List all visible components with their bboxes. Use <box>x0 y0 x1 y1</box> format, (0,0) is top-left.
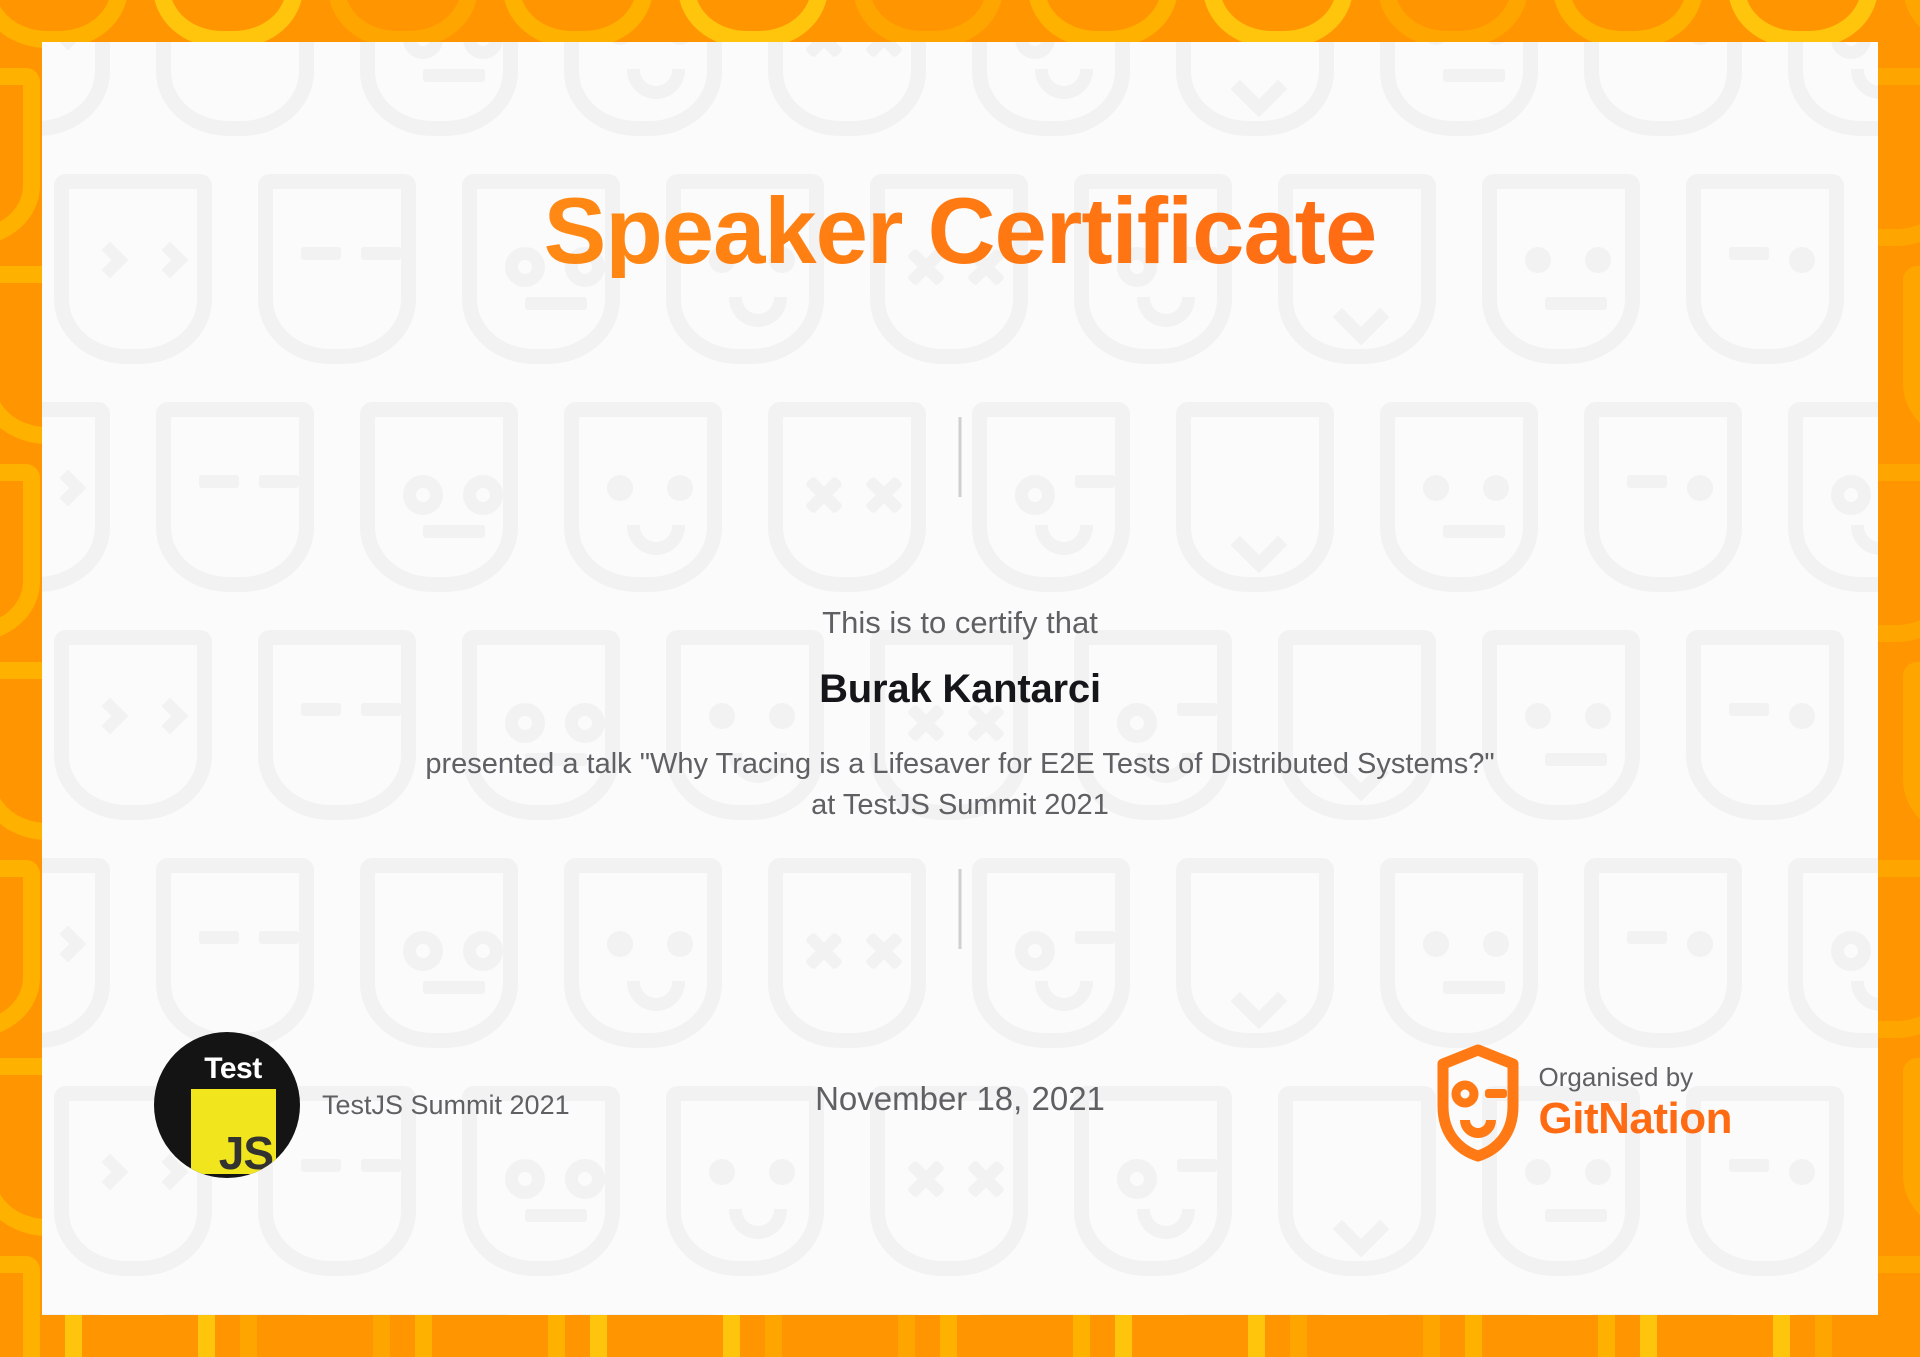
frame-shield-shape <box>1553 0 1703 48</box>
organiser-block: Organised by GitNation <box>1437 1044 1732 1162</box>
frame-shield-shape <box>1203 0 1353 48</box>
frame-shield-shape <box>853 0 1003 48</box>
frame-shield-shape <box>328 0 478 48</box>
certificate-footer: Test JS TestJS Summit 2021 November 18, … <box>42 1022 1878 1202</box>
talk-title-line: presented a talk "Why Tracing is a Lifes… <box>425 748 1494 780</box>
frame-shield-shape <box>1903 1058 1920 1236</box>
certificate-card: Speaker Certificate This is to certify t… <box>42 42 1878 1315</box>
gitnation-shield-mask-icon <box>1437 1044 1519 1162</box>
frame-shield-shape <box>0 860 40 1038</box>
organiser-text: Organised by GitNation <box>1539 1064 1732 1141</box>
frame-shield-shape <box>1903 662 1920 840</box>
frame-shield-shape <box>0 1256 40 1357</box>
frame-shield-shape <box>1378 0 1528 48</box>
frame-shield-shape <box>678 0 828 48</box>
frame-shield-shape <box>153 0 303 48</box>
organiser-name: GitNation <box>1539 1096 1732 1142</box>
talk-description: presented a talk "Why Tracing is a Lifes… <box>42 744 1878 826</box>
page-title: Speaker Certificate <box>42 184 1878 278</box>
frame-shield-shape <box>0 464 40 642</box>
divider-bottom <box>959 869 962 949</box>
recipient-name: Burak Kantarci <box>42 667 1878 712</box>
divider-top <box>959 417 962 497</box>
certificate-content: Speaker Certificate This is to certify t… <box>42 42 1878 1315</box>
frame-shield-shape <box>1903 0 1920 48</box>
testjs-logo-bottom-text: JS <box>219 1126 273 1178</box>
frame-shield-shape <box>1028 0 1178 48</box>
frame-shield-shape <box>0 0 128 48</box>
frame-shield-shape <box>1728 0 1878 48</box>
talk-event-line: at TestJS Summit 2021 <box>42 785 1878 826</box>
frame-shield-shape <box>0 68 40 246</box>
organiser-label: Organised by <box>1539 1064 1732 1091</box>
speaker-certificate: Speaker Certificate This is to certify t… <box>0 0 1920 1357</box>
frame-shield-shape <box>503 0 653 48</box>
frame-shield-shape <box>1903 266 1920 444</box>
certify-statement: This is to certify that <box>42 605 1878 641</box>
